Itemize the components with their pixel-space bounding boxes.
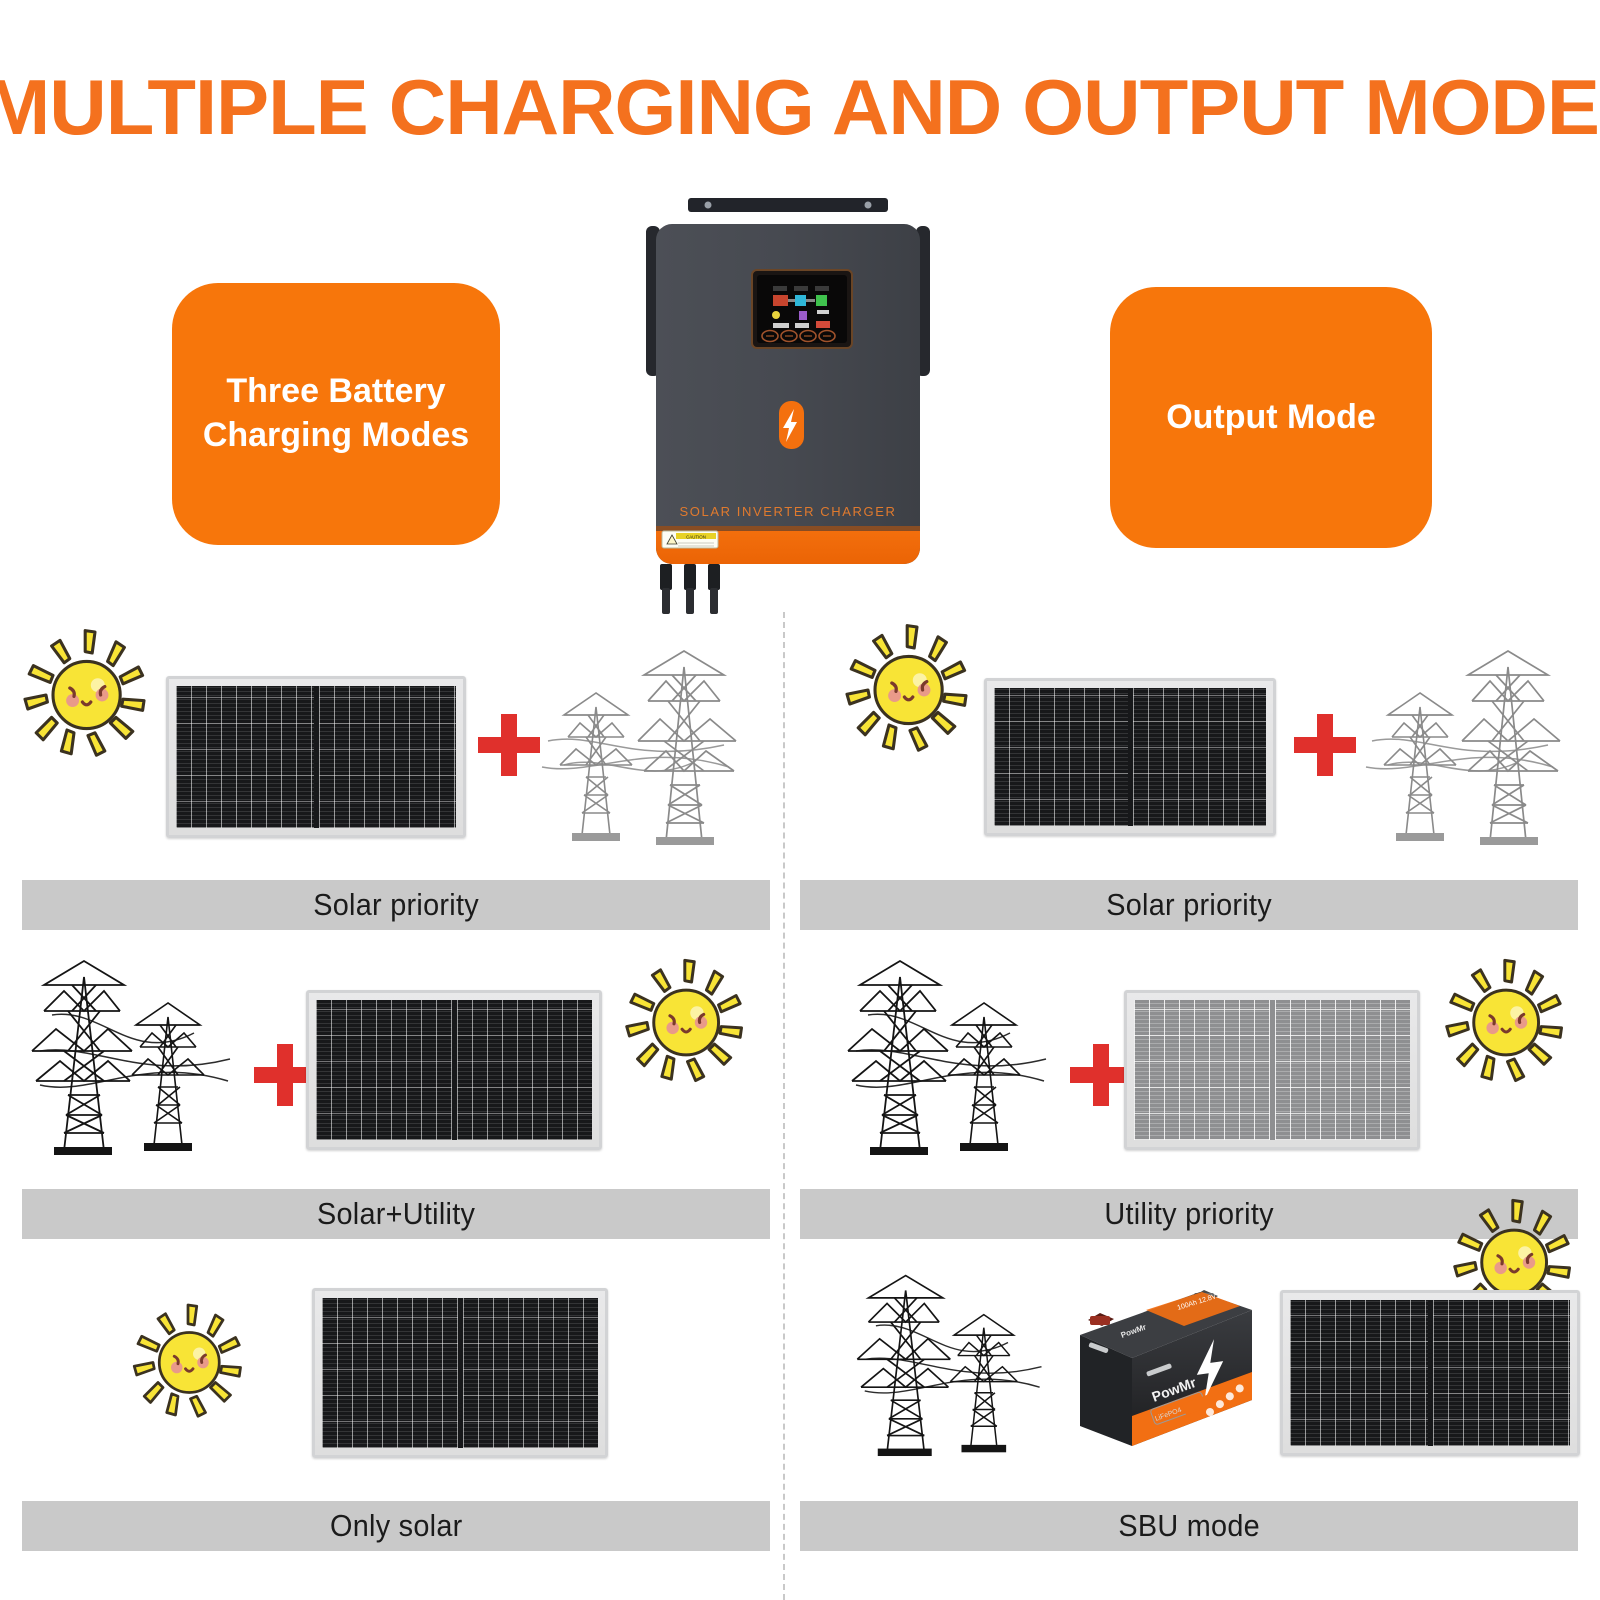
label-only-solar: Only solar: [22, 1501, 770, 1551]
solar-panel: [312, 1288, 608, 1458]
plus-icon: [1070, 1044, 1132, 1106]
solar-panel: [1280, 1290, 1580, 1456]
page-title: MULTIPLE CHARGING AND OUTPUT MODES: [0, 62, 1600, 153]
plus-icon: [1294, 714, 1356, 776]
badge-three-battery-charging-modes: Three Battery Charging Modes: [172, 283, 500, 545]
badge-output-mode: Output Mode: [1110, 287, 1432, 548]
sun-icon: [128, 1300, 253, 1430]
solar-panel: [306, 990, 602, 1150]
label-solar-priority-left: Solar priority: [22, 880, 770, 930]
infographic-page: MULTIPLE CHARGING AND OUTPUT MODES Three…: [0, 0, 1600, 1600]
sun-icon: [620, 955, 755, 1095]
label-solar-utility: Solar+Utility: [22, 1189, 770, 1239]
column-divider: [783, 612, 785, 1600]
solar-panel: [166, 676, 466, 838]
badge-right-label: Output Mode: [1166, 396, 1376, 440]
sun-icon: [1440, 955, 1575, 1095]
solar-inverter-charger-device: SOLAR INVERTER CHARGER CAUTION: [618, 196, 958, 626]
solar-panel-inactive: [1124, 990, 1420, 1150]
svg-text:CAUTION: CAUTION: [686, 535, 706, 540]
power-towers-icon: [838, 955, 1053, 1160]
battery-powmr: 100Ah 12.8V PowMr PowMr LiFePO4: [1050, 1280, 1260, 1465]
sun-icon: [18, 625, 158, 770]
label-sbu-mode: SBU mode: [800, 1501, 1578, 1551]
badge-left-line1: Three Battery: [203, 370, 469, 414]
power-towers-icon: [848, 1268, 1048, 1463]
power-towers-icon: [22, 955, 237, 1160]
badge-left-line2: Charging Modes: [203, 414, 469, 458]
sun-icon: [840, 620, 980, 765]
svg-text:SOLAR INVERTER CHARGER: SOLAR INVERTER CHARGER: [680, 504, 897, 519]
power-towers-icon: [1348, 645, 1563, 850]
solar-panel: [984, 678, 1276, 836]
power-towers-icon: [524, 645, 739, 850]
label-solar-priority-right: Solar priority: [800, 880, 1578, 930]
